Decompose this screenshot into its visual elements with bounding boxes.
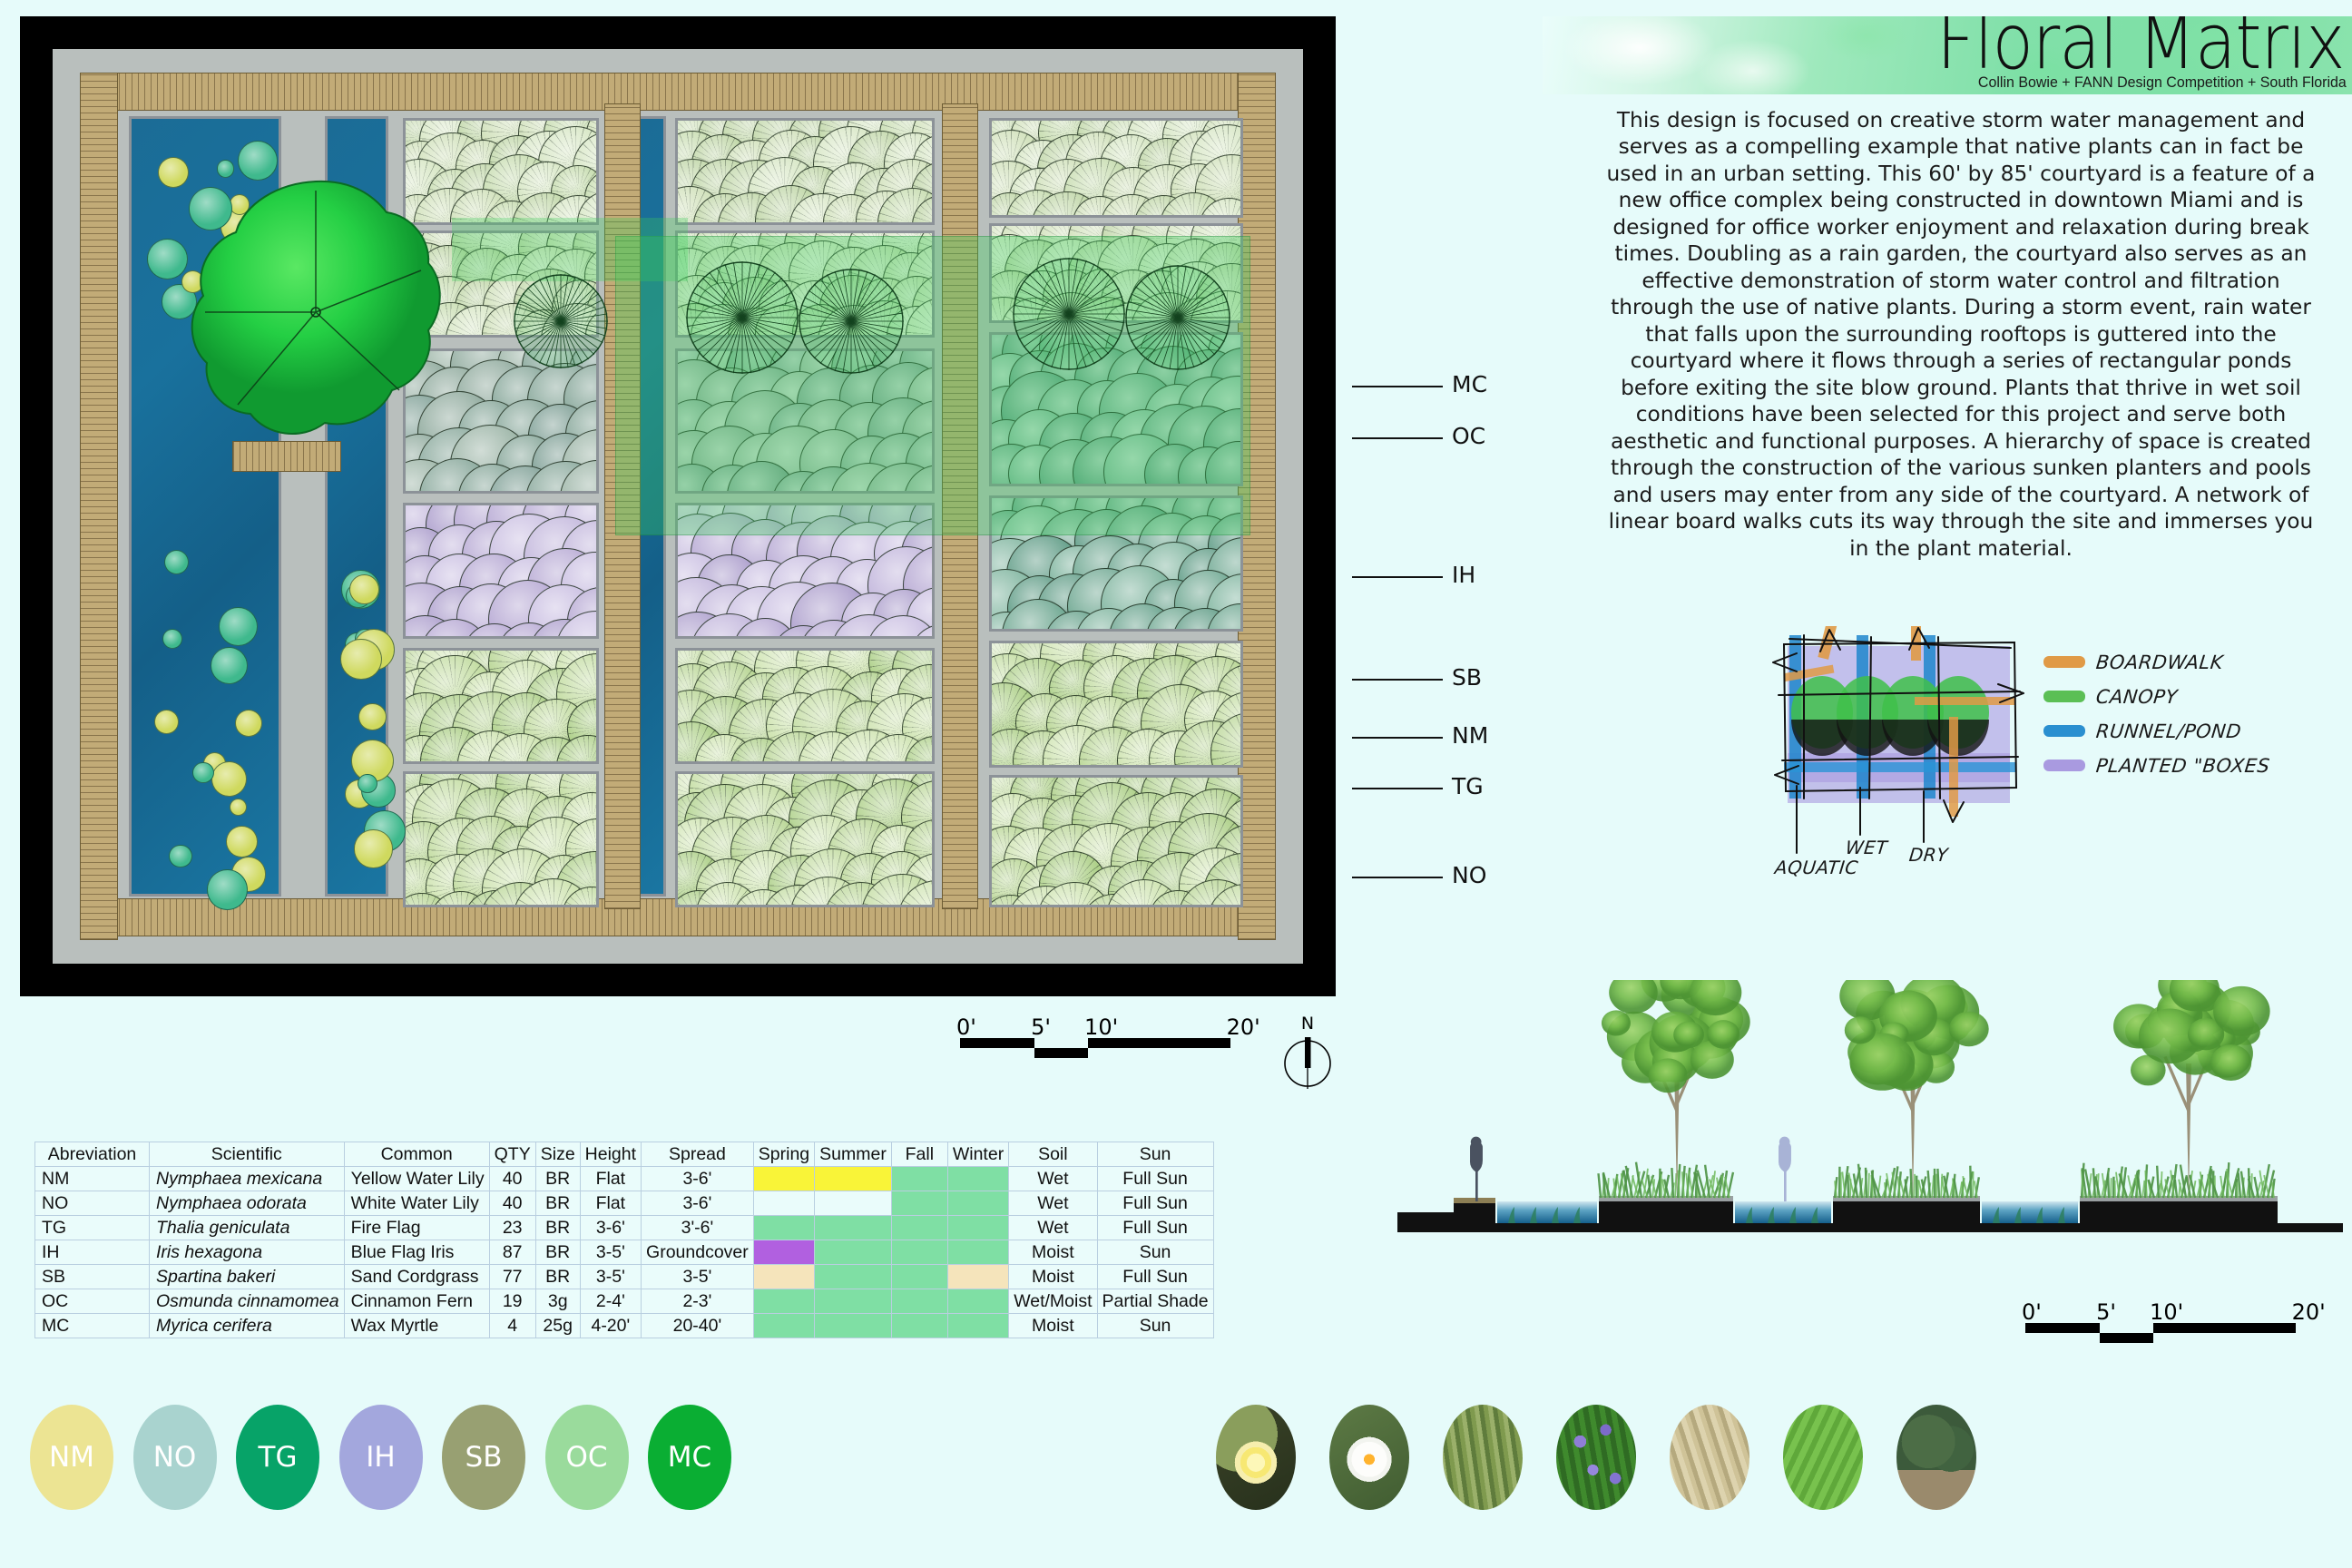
table-cell: 40 — [489, 1191, 535, 1216]
column-header: Size — [535, 1142, 580, 1167]
table-cell: 3-5' — [580, 1240, 641, 1265]
table-cell: Partial Shade — [1097, 1289, 1213, 1314]
table-cell: Full Sun — [1097, 1167, 1213, 1191]
table-cell: 3g — [535, 1289, 580, 1314]
table-cell: BR — [535, 1167, 580, 1191]
callout-leader-line[interactable] — [1352, 788, 1443, 789]
table-row: MCMyrica ceriferaWax Myrtle425g4-20'20-4… — [35, 1314, 1214, 1338]
callout-leader-line[interactable] — [1352, 679, 1443, 681]
table-cell: 19 — [489, 1289, 535, 1314]
scale-label[interactable]: 20' — [1227, 1014, 1260, 1040]
table-cell: BR — [535, 1265, 580, 1289]
concept-sketch: AQUATICWETDRYBOARDWALKCANOPYRUNNEL/PONDP… — [1751, 626, 2332, 898]
table-cell: 2-3' — [642, 1289, 754, 1314]
scale-segment[interactable] — [1034, 1048, 1088, 1058]
table-cell: 25g — [535, 1314, 580, 1338]
season-cell — [891, 1191, 947, 1216]
column-header: Winter — [947, 1142, 1008, 1167]
column-header: Sun — [1097, 1142, 1213, 1167]
table-cell: BR — [535, 1191, 580, 1216]
season-cell — [753, 1216, 814, 1240]
table-row: NMNymphaea mexicanaYellow Water Lily40BR… — [35, 1167, 1214, 1191]
table-cell: 77 — [489, 1265, 535, 1289]
callout-leader-line[interactable] — [1352, 737, 1443, 739]
callout-label-sb[interactable]: SB — [1452, 664, 1482, 691]
season-cell — [891, 1265, 947, 1289]
season-cell — [891, 1216, 947, 1240]
table-cell: Sun — [1097, 1314, 1213, 1338]
callout-leader-line[interactable] — [1352, 877, 1443, 878]
season-cell — [815, 1167, 892, 1191]
sketch-key-label[interactable]: PLANTED "BOXES — [2095, 755, 2271, 777]
table-cell: White Water Lily — [344, 1191, 489, 1216]
table-cell: 87 — [489, 1240, 535, 1265]
table-cell: Sand Cordgrass — [344, 1265, 489, 1289]
table-cell: Moist — [1009, 1240, 1097, 1265]
column-header: QTY — [489, 1142, 535, 1167]
callout-label-nm[interactable]: NM — [1452, 722, 1488, 749]
table-cell: 3-5' — [642, 1265, 754, 1289]
table-cell: 23 — [489, 1216, 535, 1240]
table-cell: Nymphaea odorata — [150, 1191, 345, 1216]
plan-scale-bar: 0'5'10'20' — [960, 1014, 1241, 1069]
season-cell — [815, 1289, 892, 1314]
table-row: SBSpartina bakeriSand Cordgrass77BR3-5'3… — [35, 1265, 1214, 1289]
table-cell: Nymphaea mexicana — [150, 1167, 345, 1191]
table-cell: Thalia geniculata — [150, 1216, 345, 1240]
table-cell: Fire Flag — [344, 1216, 489, 1240]
table-cell: Full Sun — [1097, 1191, 1213, 1216]
callout-label-tg[interactable]: TG — [1452, 773, 1484, 799]
callout-label-oc[interactable]: OC — [1452, 423, 1485, 449]
column-header: Scientific — [150, 1142, 345, 1167]
table-cell: Flat — [580, 1191, 641, 1216]
table-cell: 20-40' — [642, 1314, 754, 1338]
season-cell — [891, 1167, 947, 1191]
table-row: IHIris hexagonaBlue Flag Iris87BR3-5'Gro… — [35, 1240, 1214, 1265]
column-header: Summer — [815, 1142, 892, 1167]
table-cell: Cinnamon Fern — [344, 1289, 489, 1314]
table-cell: IH — [35, 1240, 150, 1265]
season-cell — [947, 1216, 1008, 1240]
column-header: Spring — [753, 1142, 814, 1167]
table-cell: Full Sun — [1097, 1265, 1213, 1289]
sketch-key-swatch[interactable] — [2043, 656, 2085, 668]
season-cell — [815, 1191, 892, 1216]
scale-label[interactable]: 5' — [2096, 1299, 2116, 1325]
season-cell — [753, 1191, 814, 1216]
season-cell — [947, 1240, 1008, 1265]
table-cell: Wet — [1009, 1191, 1097, 1216]
column-header: Height — [580, 1142, 641, 1167]
season-cell — [753, 1265, 814, 1289]
table-header-row: AbreviationScientificCommonQTYSizeHeight… — [35, 1142, 1214, 1167]
column-header: Fall — [891, 1142, 947, 1167]
scale-segment[interactable] — [2100, 1333, 2153, 1343]
table-row: OCOsmunda cinnamomeaCinnamon Fern193g2-4… — [35, 1289, 1214, 1314]
season-cell — [891, 1314, 947, 1338]
column-header: Common — [344, 1142, 489, 1167]
sketch-key-swatch[interactable] — [2043, 759, 2085, 771]
table-cell: Wet/Moist — [1009, 1289, 1097, 1314]
table-cell: Blue Flag Iris — [344, 1240, 489, 1265]
scale-label[interactable]: 0' — [2022, 1299, 2042, 1325]
table-body: NMNymphaea mexicanaYellow Water Lily40BR… — [35, 1167, 1214, 1338]
sketch-key-swatch[interactable] — [2043, 691, 2085, 702]
callout-label-no[interactable]: NO — [1452, 862, 1486, 888]
table-cell: Spartina bakeri — [150, 1265, 345, 1289]
table-cell: Yellow Water Lily — [344, 1167, 489, 1191]
table-cell: Groundcover — [642, 1240, 754, 1265]
season-cell — [947, 1314, 1008, 1338]
season-cell — [947, 1289, 1008, 1314]
season-cell — [815, 1265, 892, 1289]
table-cell: BR — [535, 1240, 580, 1265]
scale-label[interactable]: 5' — [1031, 1014, 1051, 1040]
scale-label[interactable]: 0' — [956, 1014, 976, 1040]
section-elevation-drawing — [1388, 980, 2352, 1279]
season-cell — [947, 1191, 1008, 1216]
north-arrow-icon: N — [1282, 1014, 1333, 1093]
sketch-note-dry[interactable]: DRY — [1908, 844, 1950, 866]
table-cell: Iris hexagona — [150, 1240, 345, 1265]
sketch-note-aquatic[interactable]: AQUATIC — [1774, 857, 1859, 878]
table-cell: Moist — [1009, 1265, 1097, 1289]
callout-leader-line[interactable] — [1352, 576, 1443, 578]
season-cell — [891, 1289, 947, 1314]
season-cell — [753, 1240, 814, 1265]
table-cell: Wet — [1009, 1216, 1097, 1240]
plant-schedule-table: AbreviationScientificCommonQTYSizeHeight… — [34, 1142, 1214, 1338]
table-cell: Osmunda cinnamomea — [150, 1289, 345, 1314]
sketch-key-swatch[interactable] — [2043, 725, 2085, 737]
table-cell: 4-20' — [580, 1314, 641, 1338]
table-cell: Wet — [1009, 1167, 1097, 1191]
scale-label[interactable]: 10' — [2150, 1299, 2183, 1325]
table-cell: 3-6' — [642, 1167, 754, 1191]
table-cell: Myrica cerifera — [150, 1314, 345, 1338]
season-cell — [815, 1240, 892, 1265]
table-row: TGThalia geniculataFire Flag23BR3-6'3'-6… — [35, 1216, 1214, 1240]
season-cell — [891, 1240, 947, 1265]
season-cell — [753, 1167, 814, 1191]
table-cell: TG — [35, 1216, 150, 1240]
callout-leader-line[interactable] — [1352, 437, 1443, 439]
callout-label-mc[interactable]: MC — [1452, 371, 1487, 397]
section-scale-bar[interactable]: 0'5'10'20' — [2025, 1299, 2307, 1354]
table-cell: 3-5' — [580, 1265, 641, 1289]
column-header: Soil — [1009, 1142, 1097, 1167]
table-cell: 4 — [489, 1314, 535, 1338]
season-cell — [753, 1289, 814, 1314]
season-cell — [815, 1314, 892, 1338]
scale-label[interactable]: 10' — [1084, 1014, 1118, 1040]
callout-label-ih[interactable]: IH — [1452, 562, 1475, 588]
table-cell: SB — [35, 1265, 150, 1289]
season-cell — [947, 1265, 1008, 1289]
table-cell: MC — [35, 1314, 150, 1338]
season-cell — [753, 1314, 814, 1338]
table-cell: 3-6' — [580, 1216, 641, 1240]
table-cell: 2-4' — [580, 1289, 641, 1314]
table-cell: 3-6' — [642, 1191, 754, 1216]
table-cell: Wax Myrtle — [344, 1314, 489, 1338]
table-cell: Moist — [1009, 1314, 1097, 1338]
table-cell: Sun — [1097, 1240, 1213, 1265]
season-cell — [815, 1216, 892, 1240]
season-cell — [947, 1167, 1008, 1191]
table-cell: NM — [35, 1167, 150, 1191]
scale-label[interactable]: 20' — [2292, 1299, 2326, 1325]
column-header: Spread — [642, 1142, 754, 1167]
table-cell: Full Sun — [1097, 1216, 1213, 1240]
sketch-key-label[interactable]: BOARDWALK — [2095, 652, 2225, 673]
column-header: Abreviation — [35, 1142, 150, 1167]
table-cell: Flat — [580, 1167, 641, 1191]
north-label: N — [1301, 1014, 1314, 1034]
table-cell: OC — [35, 1289, 150, 1314]
sketch-note-wet[interactable]: WET — [1845, 837, 1889, 858]
table-row: NONymphaea odorataWhite Water Lily40BRFl… — [35, 1191, 1214, 1216]
table-cell: 3'-6' — [642, 1216, 754, 1240]
callout-leader-line[interactable] — [1352, 386, 1443, 387]
table-cell: NO — [35, 1191, 150, 1216]
sketch-key-label[interactable]: RUNNEL/POND — [2095, 720, 2243, 742]
sketch-key-label[interactable]: CANOPY — [2095, 686, 2179, 708]
table-cell: BR — [535, 1216, 580, 1240]
table-cell: 40 — [489, 1167, 535, 1191]
